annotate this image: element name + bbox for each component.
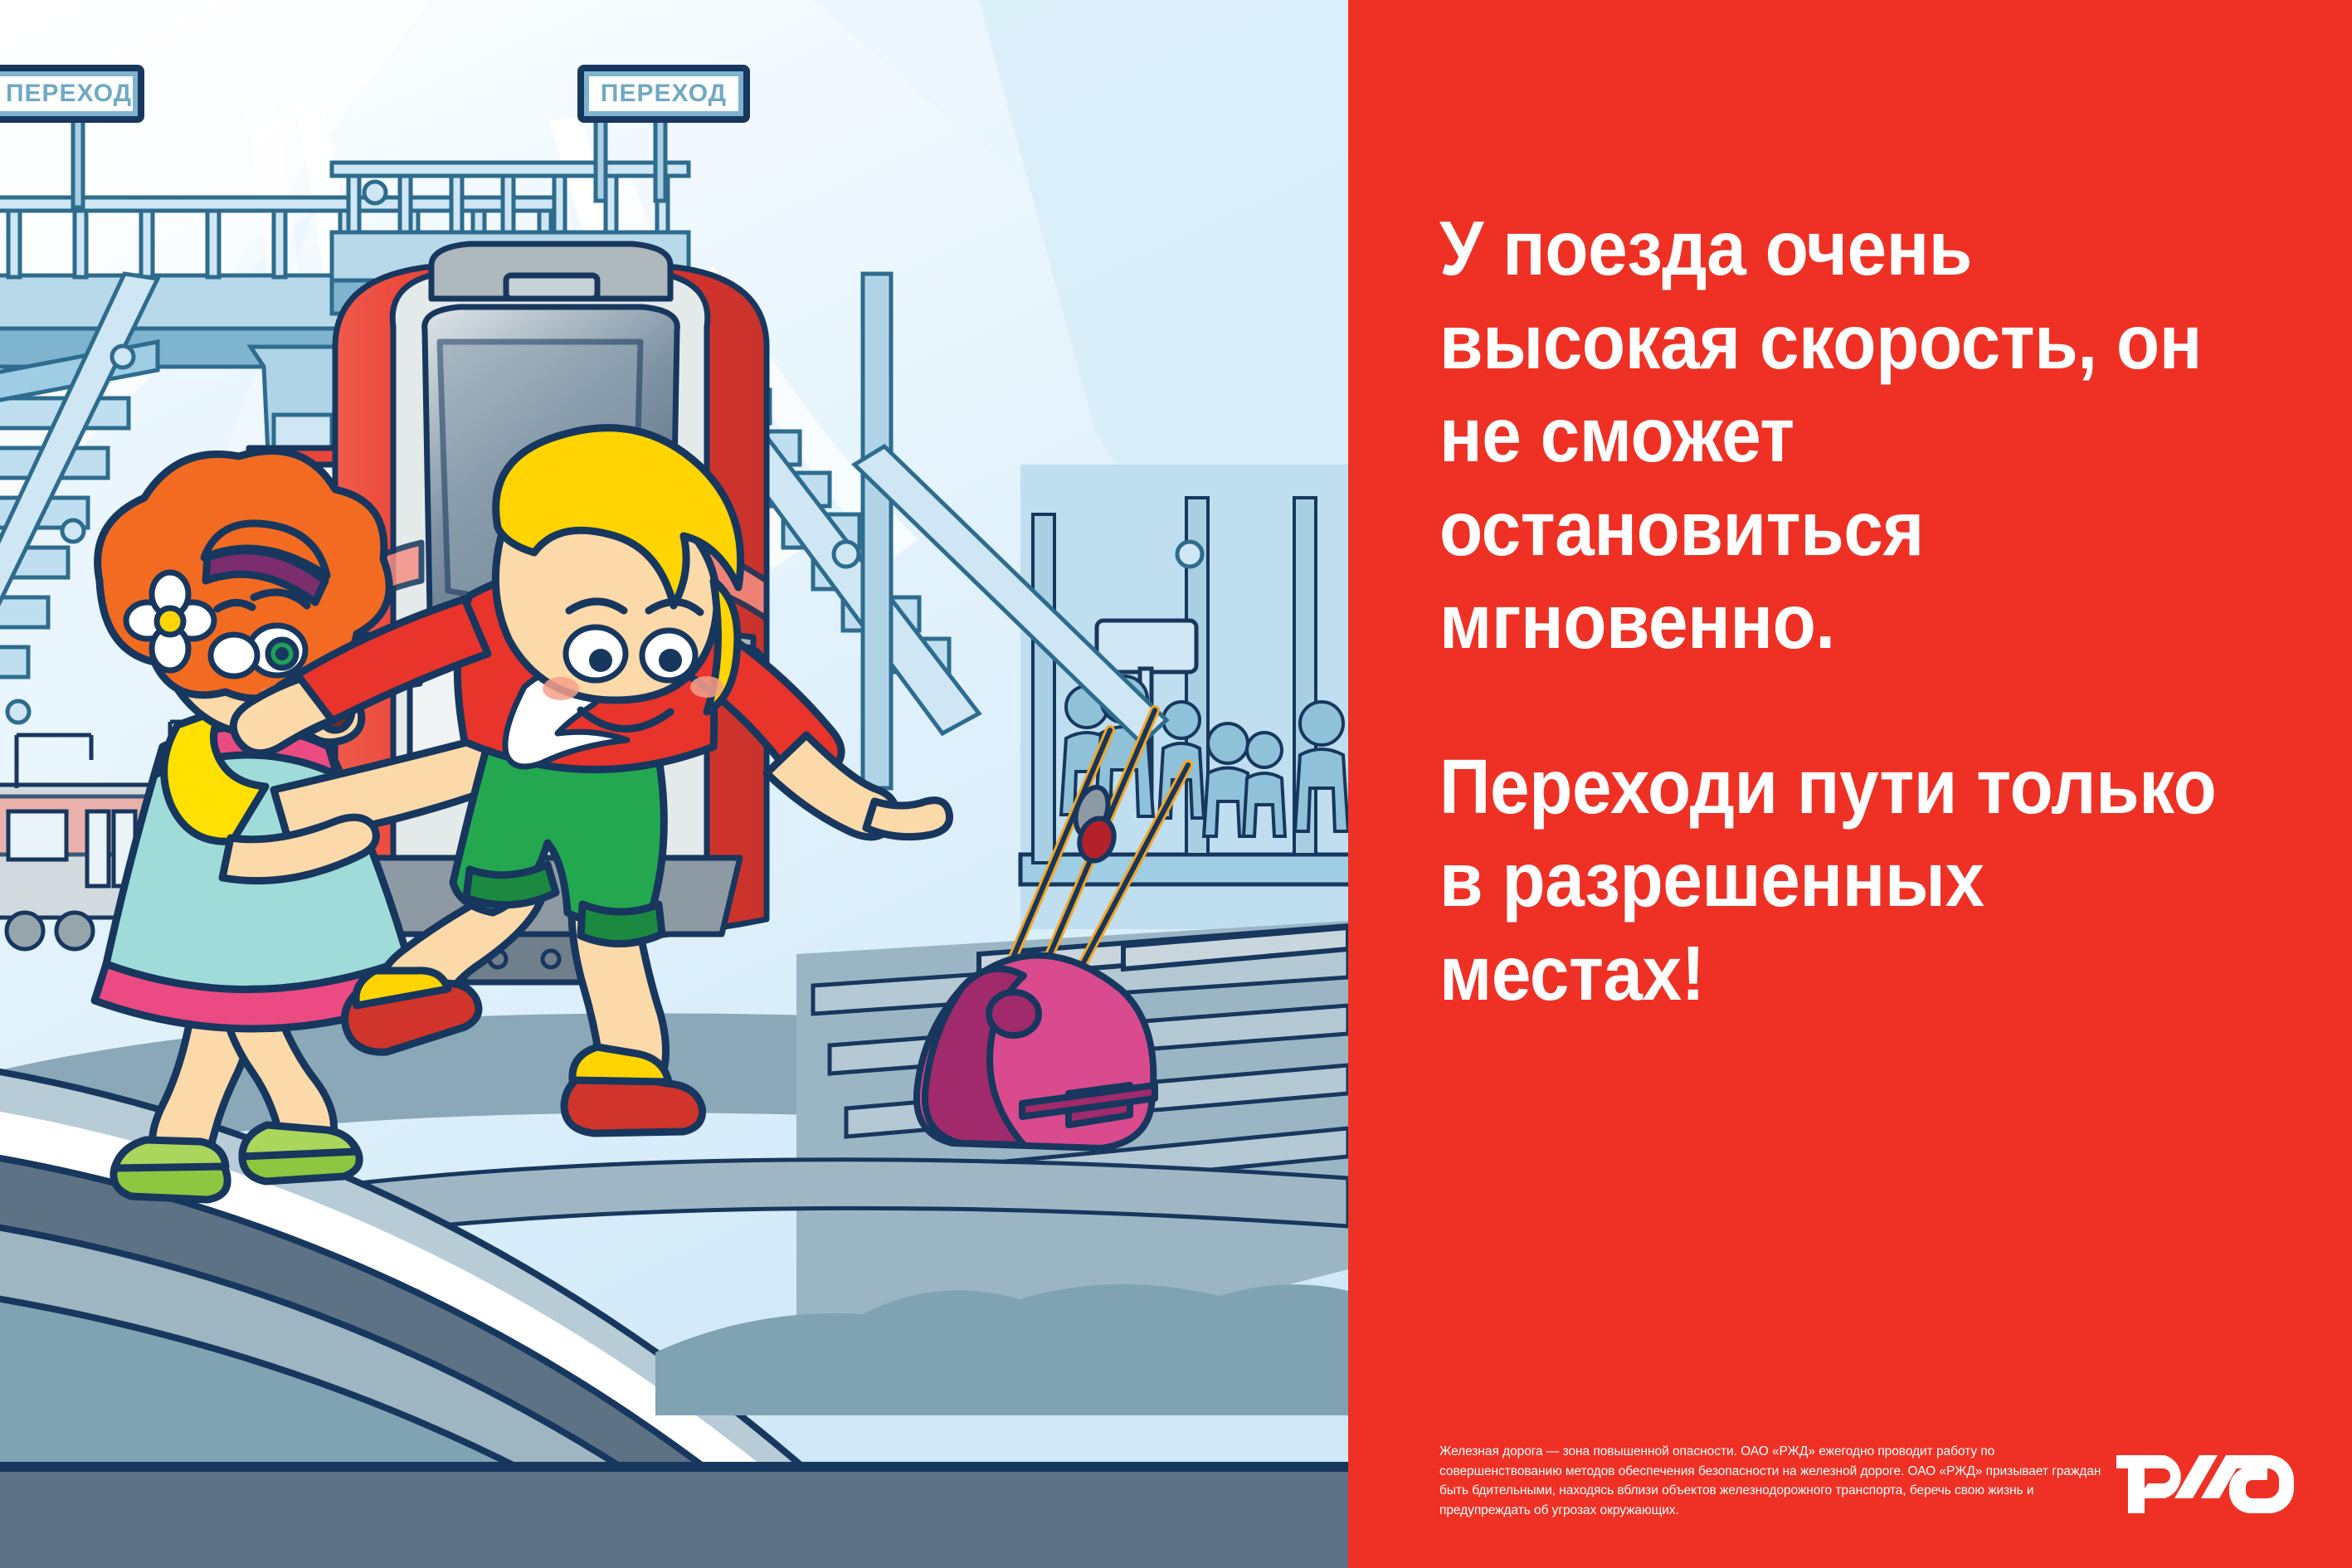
headline-line-1: У поезда очень высокая скорость, он не с… [1439, 202, 2218, 669]
headline-spacer [1439, 669, 2218, 740]
poster-root: ПЕРЕХОД ПЕРЕХОД У поезда очень высокая с… [0, 0, 2352, 1568]
sign-label-right: ПЕРЕХОД [592, 77, 735, 110]
message-panel: У поезда очень высокая скорость, он не с… [1348, 0, 2352, 1568]
headline-line-2: Переходи пути только в разрешенных места… [1439, 740, 2218, 1020]
sign-label-left: ПЕРЕХОД [7, 77, 131, 110]
rzd-logo [2113, 1427, 2309, 1517]
headline-block: У поезда очень высокая скорость, он не с… [1439, 202, 2218, 1020]
railway-scene-illustration [0, 0, 1348, 1568]
illustration-panel: ПЕРЕХОД ПЕРЕХОД [0, 0, 1348, 1568]
legal-disclaimer: Железная дорога — зона повышенной опасно… [1439, 1442, 2103, 1520]
rzd-logo-mark [2113, 1427, 2309, 1517]
